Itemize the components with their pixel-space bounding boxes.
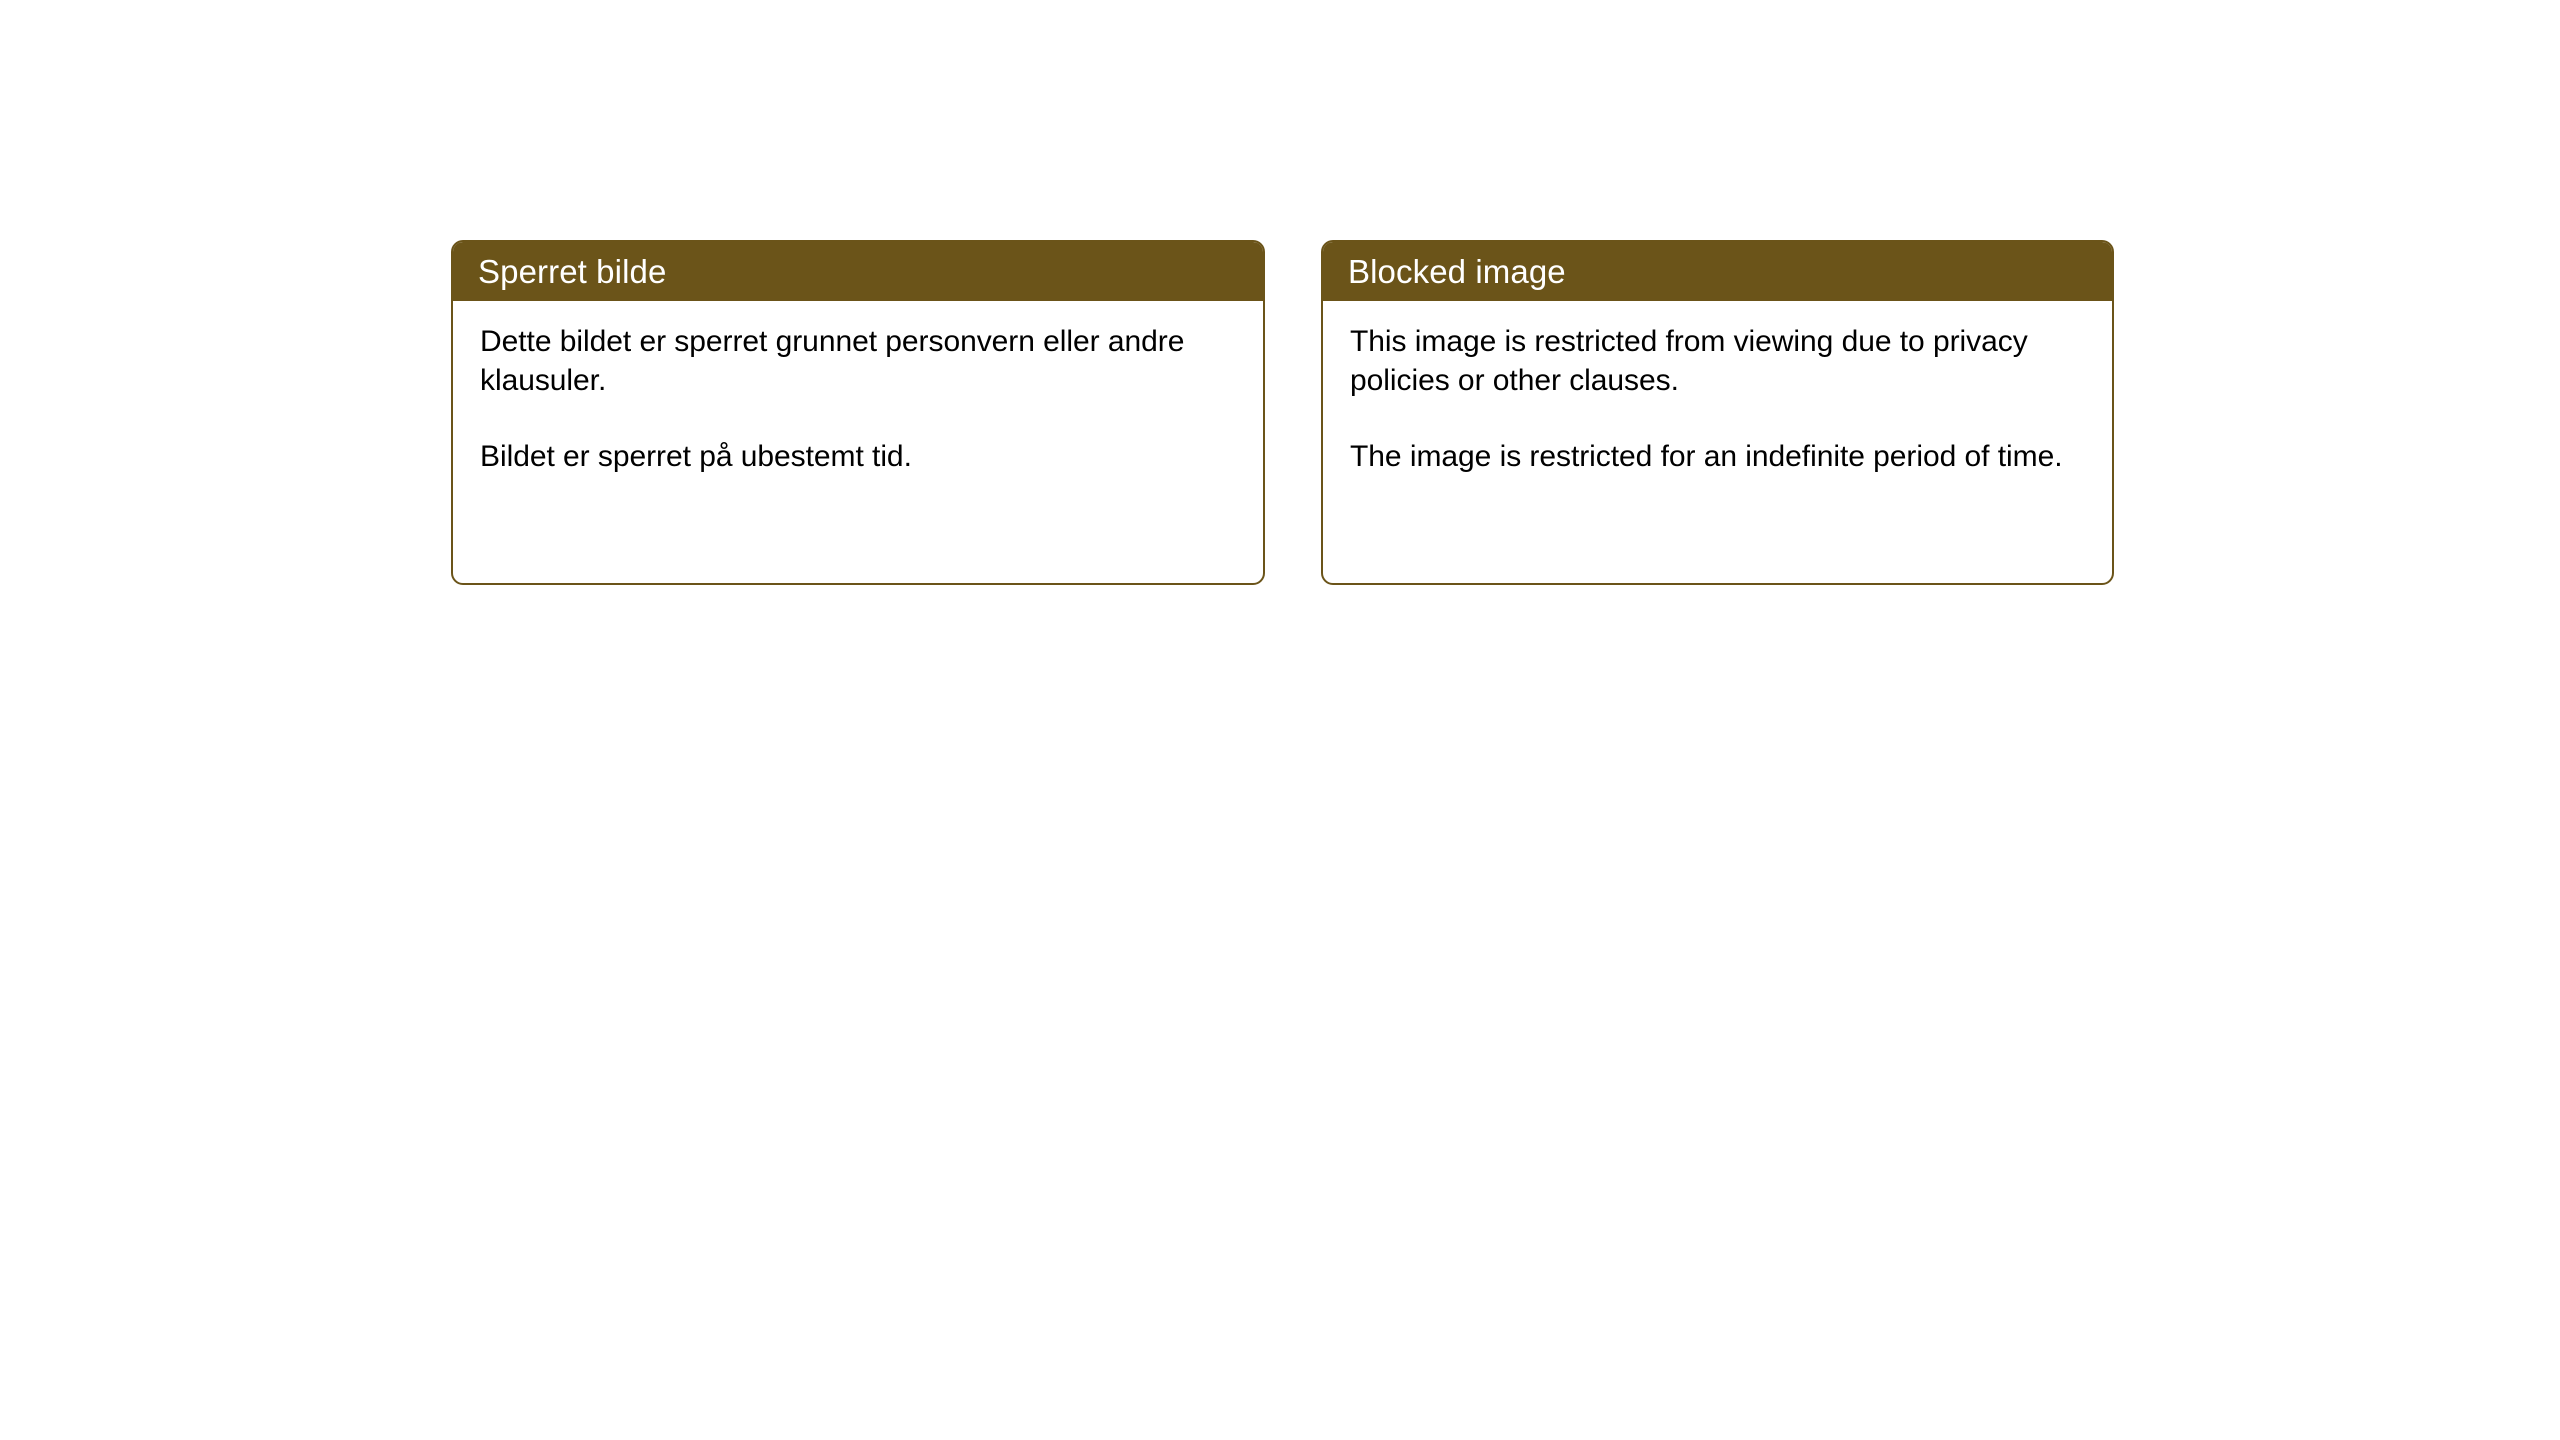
notice-card-paragraph-reason-english: This image is restricted from viewing du…: [1350, 323, 2086, 400]
notice-card-title-english: Blocked image: [1348, 255, 1566, 288]
notice-card-header-english: Blocked image: [1322, 241, 2113, 301]
notice-card-paragraph-duration-norwegian: Bildet er sperret på ubestemt tid.: [480, 438, 1237, 477]
notice-card-header-norwegian: Sperret bilde: [452, 241, 1264, 301]
page-root: Sperret bilde Dette bildet er sperret gr…: [0, 0, 2560, 1440]
notice-card-paragraph-reason-norwegian: Dette bildet er sperret grunnet personve…: [480, 323, 1237, 400]
notice-card-paragraph-duration-english: The image is restricted for an indefinit…: [1350, 438, 2086, 477]
blocked-image-notice-card-english: Blocked image This image is restricted f…: [1321, 240, 2114, 585]
notice-card-body-english: This image is restricted from viewing du…: [1323, 301, 2112, 477]
notice-card-title-norwegian: Sperret bilde: [478, 255, 666, 288]
notice-card-body-norwegian: Dette bildet er sperret grunnet personve…: [453, 301, 1263, 477]
blocked-image-notice-card-norwegian: Sperret bilde Dette bildet er sperret gr…: [451, 240, 1265, 585]
